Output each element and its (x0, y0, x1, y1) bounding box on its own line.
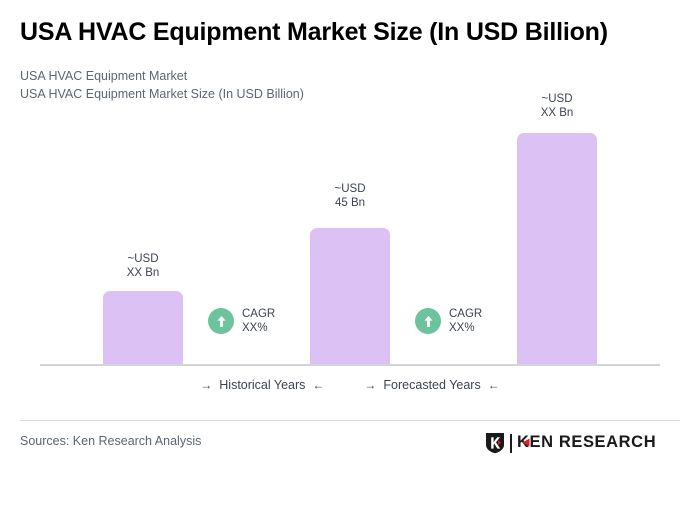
cagr-badge-label: CAGR XX% (242, 307, 275, 335)
bar-value-label-line-1: ~USD (128, 253, 159, 265)
cagr-label-line-2: XX% (449, 322, 475, 334)
shield-k-logo-icon (485, 432, 505, 454)
axis-baseline (40, 364, 660, 366)
arrow-up-icon (208, 308, 234, 334)
legend-item-label: Forecasted Years (383, 378, 480, 392)
bar-value-label-line-2: XX Bn (127, 267, 160, 279)
bar-value-label-line-1: ~USD (542, 93, 573, 105)
footer-divider (20, 420, 680, 421)
cagr-badge-1[interactable]: CAGR XX% (208, 307, 275, 335)
brand-logo: KEN RESEARCH (485, 432, 656, 454)
legend-item-label: Historical Years (219, 378, 305, 392)
bar-historical[interactable] (103, 291, 183, 365)
cagr-badge-2[interactable]: CAGR XX% (415, 307, 482, 335)
arrow-left-icon: ← (488, 378, 500, 392)
brand-wordmark: KEN RESEARCH (517, 433, 656, 451)
chart-page: USA HVAC Equipment Market Size (In USD B… (0, 0, 700, 520)
arrow-up-icon (415, 308, 441, 334)
cagr-badge-label: CAGR XX% (449, 307, 482, 335)
arrow-right-icon: → (364, 378, 376, 392)
legend-item-forecasted-years[interactable]: → Forecasted Years ← (364, 378, 499, 392)
bar-value-label-line-2: 45 Bn (335, 197, 365, 209)
bar-value-label-line-2: XX Bn (541, 107, 574, 119)
bar-value-label: ~USD XX Bn (103, 252, 183, 280)
arrow-right-icon: → (200, 378, 212, 392)
sources-text: Sources: Ken Research Analysis (20, 434, 201, 448)
bar-value-label-line-1: ~USD (335, 183, 366, 195)
period-legend: → Historical Years ← → Forecasted Years … (0, 378, 700, 392)
bar-forecast[interactable] (517, 133, 597, 365)
bar-mid[interactable] (310, 228, 390, 365)
cagr-label-line-1: CAGR (449, 308, 482, 320)
red-triangle-accent-icon (522, 438, 530, 447)
cagr-label-line-1: CAGR (242, 308, 275, 320)
plot-area: ~USD XX Bn ~USD 45 Bn ~USD XX Bn C (0, 0, 700, 366)
bar-value-label: ~USD 45 Bn (310, 182, 390, 210)
cagr-label-line-2: XX% (242, 322, 268, 334)
logo-divider-icon (510, 434, 512, 453)
legend-item-historical-years[interactable]: → Historical Years ← (200, 378, 324, 392)
arrow-left-icon: ← (312, 378, 324, 392)
bar-value-label: ~USD XX Bn (517, 92, 597, 120)
